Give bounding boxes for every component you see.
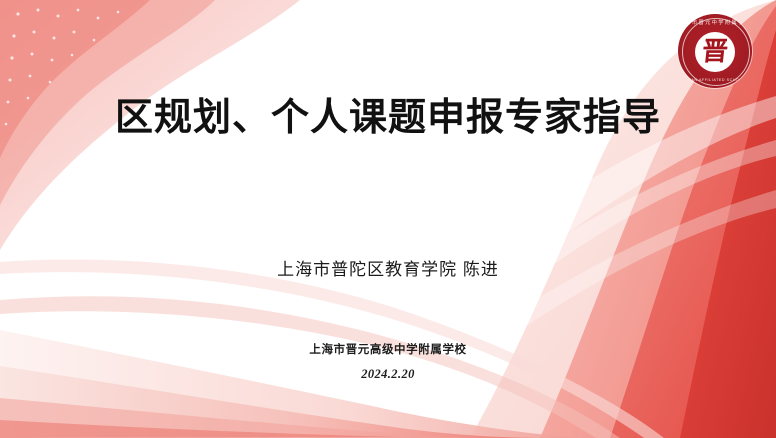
- host-school-line: 上海市晋元高级中学附属学校: [0, 341, 776, 357]
- presentation-slide: 上海市晋元中学附属学校 晋 JINYUAN AFFILIATED SCHOOL …: [0, 0, 776, 438]
- slide-title: 区规划、个人课题申报专家指导: [0, 86, 776, 141]
- logo-monogram: 晋: [701, 39, 730, 65]
- logo-bottom-text: JINYUAN AFFILIATED SCHOOL OF SHANGHAI: [678, 78, 752, 82]
- logo-top-text: 上海市晋元中学附属学校: [678, 19, 752, 26]
- slide-date: 2024.2.20: [0, 367, 776, 382]
- logo-monogram-circle: 晋: [695, 32, 735, 72]
- presenter-line: 上海市普陀区教育学院 陈进: [0, 255, 776, 280]
- school-logo: 上海市晋元中学附属学校 晋 JINYUAN AFFILIATED SCHOOL …: [678, 14, 752, 88]
